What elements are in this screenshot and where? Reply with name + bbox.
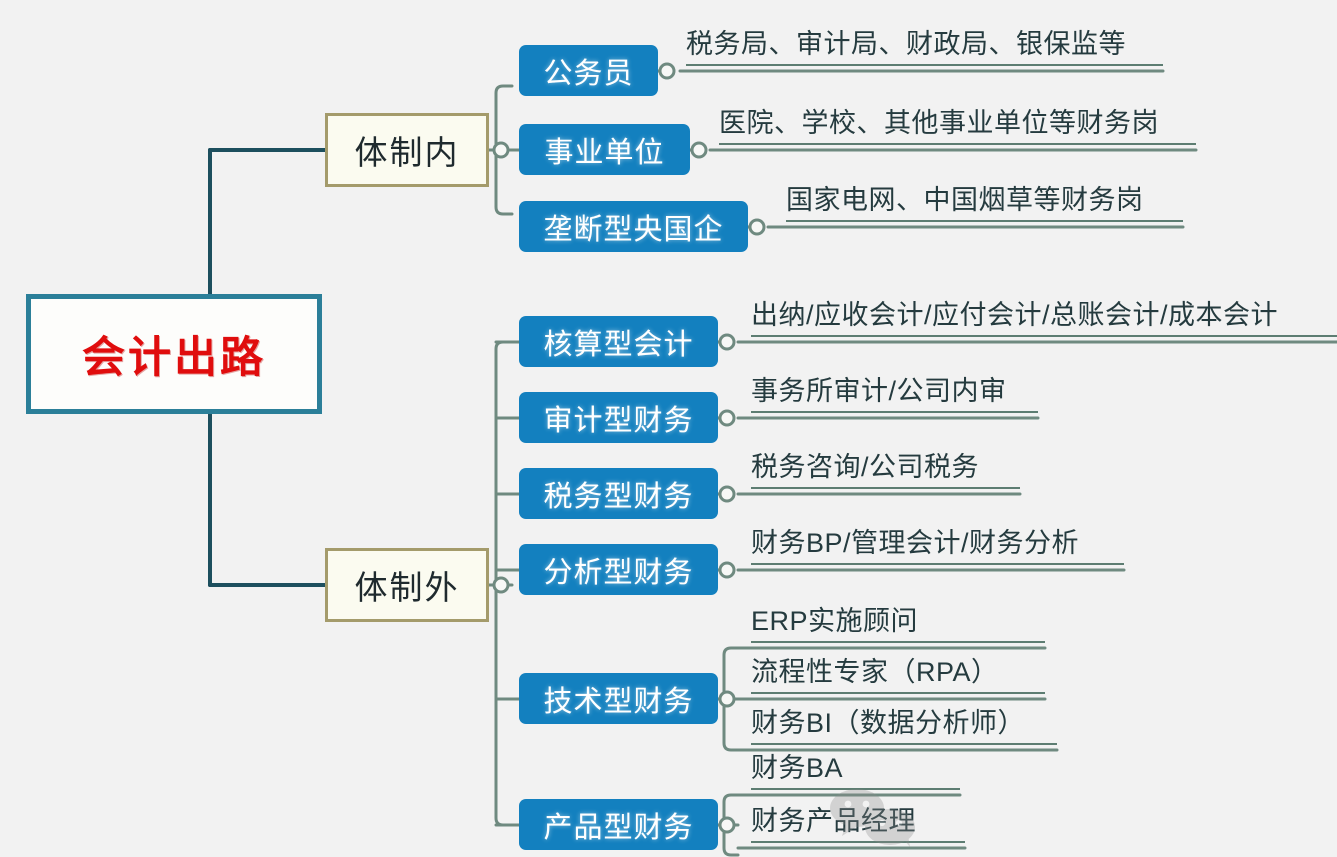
junction-dot [720,818,734,832]
leaf-node-fenxi-1[interactable]: 财务BP/管理会计/财务分析 [751,527,1124,565]
topic-node-label: 核算型会计 [543,321,693,363]
leaf-node-jishu-3[interactable]: 财务BI（数据分析师） [751,707,1057,745]
topic-node-gongwuyuan[interactable]: 公务员 [519,45,658,96]
junction-dot [660,64,674,78]
topic-node-label: 审计型财务 [543,397,693,439]
leaf-node-chanpin-1[interactable]: 财务BA [751,752,960,790]
root-node-label: 会计出路 [82,323,266,385]
junction-dot [494,143,508,157]
branch-node-tizhinei[interactable]: 体制内 [325,113,489,187]
branch-node-tizhiwai[interactable]: 体制外 [325,548,489,622]
topic-node-chanpinxingcaiwu[interactable]: 产品型财务 [519,799,718,850]
branch-node-label: 体制外 [355,561,460,609]
leaf-node-shuiwu-1[interactable]: 税务咨询/公司税务 [751,451,1020,489]
junction-dot [720,563,734,577]
topic-node-label: 垄断型央国企 [543,206,723,248]
junction-dot [692,143,706,157]
topic-node-label: 事业单位 [544,129,664,171]
topic-node-longduanxingyangguoqi[interactable]: 垄断型央国企 [519,201,748,252]
leaf-node-shiyedanwei-1[interactable]: 医院、学校、其他事业单位等财务岗 [719,107,1196,145]
topic-node-shiyedanwei[interactable]: 事业单位 [519,124,690,175]
topic-node-label: 公务员 [543,50,633,92]
junction-dot [494,578,508,592]
leaf-node-chanpin-2[interactable]: 财务产品经理 [751,805,965,843]
root-node[interactable]: 会计出路 [26,294,322,414]
junction-dot [720,487,734,501]
topic-node-label: 产品型财务 [543,804,693,846]
topic-node-hesuanxingkuaiji[interactable]: 核算型会计 [519,316,718,367]
topic-node-label: 分析型财务 [543,549,693,591]
junction-dot [720,335,734,349]
topic-node-label: 税务型财务 [543,473,693,515]
junction-dot [720,411,734,425]
leaf-node-gongwuyuan-1[interactable]: 税务局、审计局、财政局、银保监等 [686,28,1163,66]
branch-node-label: 体制内 [355,126,460,174]
leaf-node-jishu-2[interactable]: 流程性专家（RPA） [751,656,1045,694]
mindmap-canvas: 会计出路 体制内 体制外 公务员 事业单位 垄断型央国企 核算型会计 审计型财务… [0,0,1337,857]
topic-node-fenxixingcaiwu[interactable]: 分析型财务 [519,544,718,595]
junction-dot [720,692,734,706]
leaf-node-jishu-1[interactable]: ERP实施顾问 [751,605,1045,643]
topic-node-label: 技术型财务 [543,678,693,720]
leaf-node-shenji-1[interactable]: 事务所审计/公司内审 [751,375,1038,413]
topic-node-shenjixingcaiwu[interactable]: 审计型财务 [519,392,718,443]
leaf-node-yangguoqi-1[interactable]: 国家电网、中国烟草等财务岗 [786,184,1183,222]
topic-node-jishuxingcaiwu[interactable]: 技术型财务 [519,673,718,724]
topic-node-shuiwuxingcaiwu[interactable]: 税务型财务 [519,468,718,519]
leaf-node-hesuan-1[interactable]: 出纳/应收会计/应付会计/总账会计/成本会计 [751,299,1337,337]
junction-dot [750,220,764,234]
